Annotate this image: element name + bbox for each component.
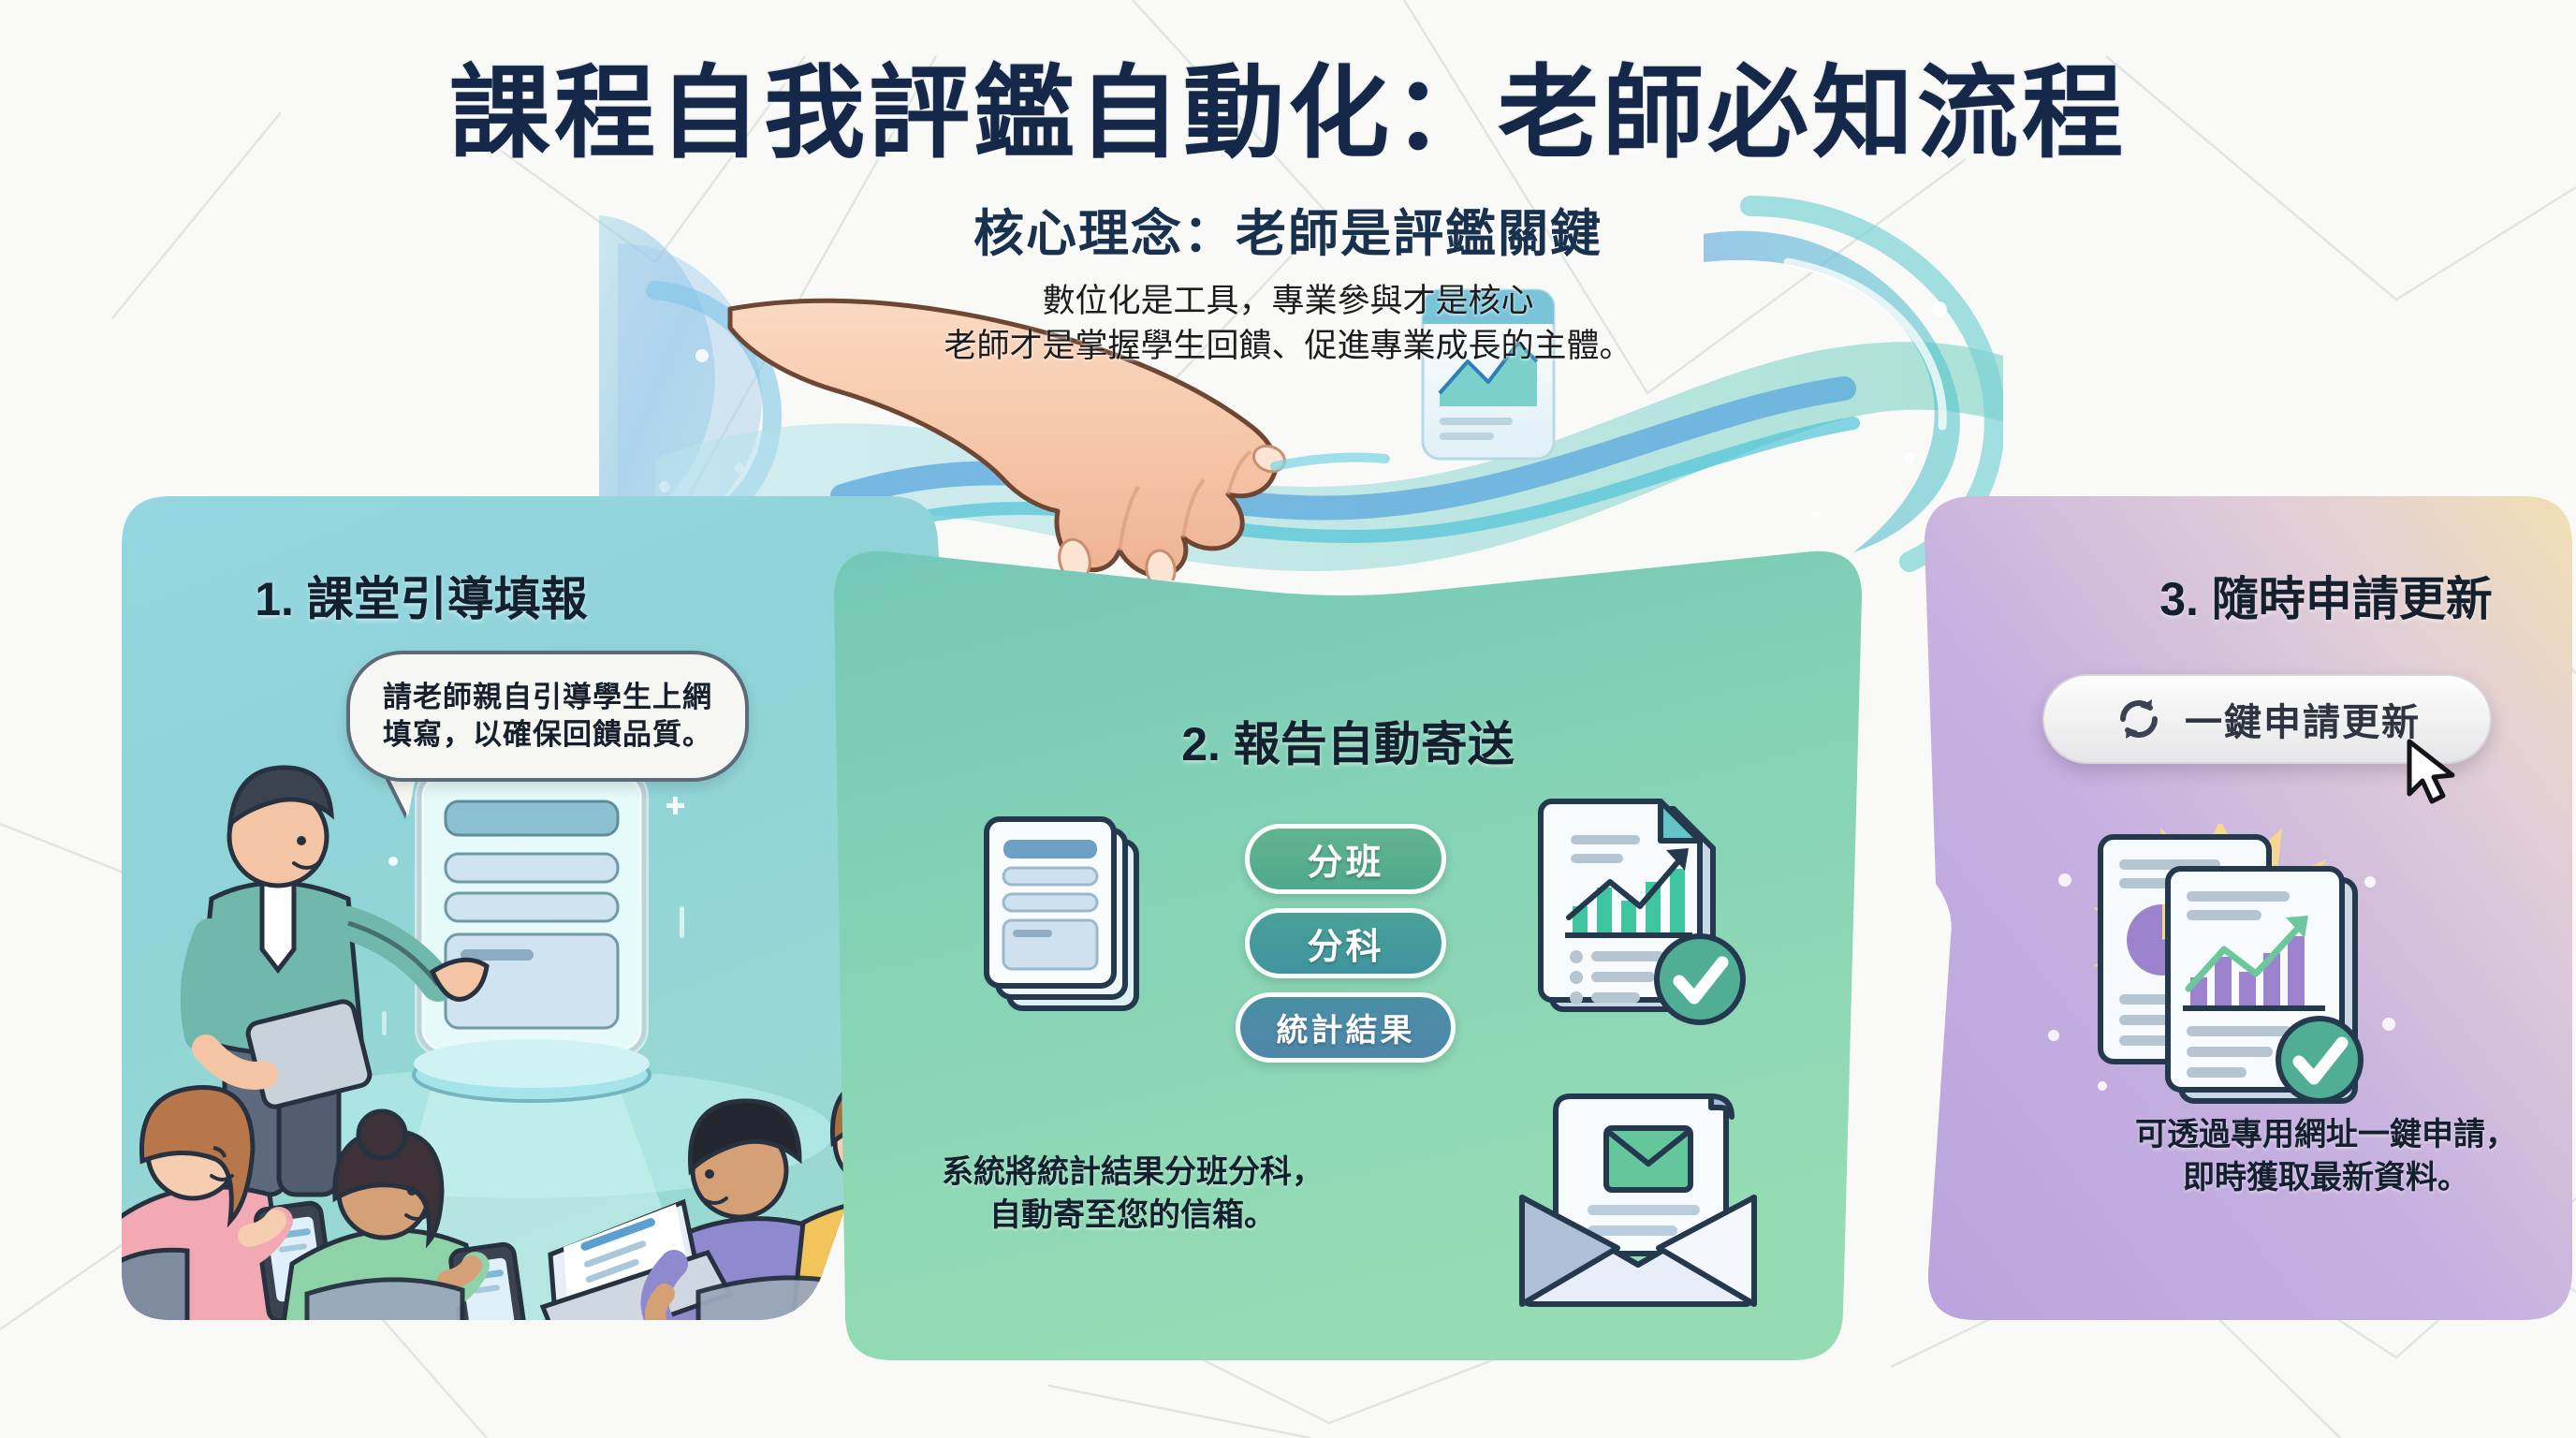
document-stack-icon <box>973 810 1161 1034</box>
hero-subtitle: 數位化是工具，專業參與才是核心 老師才是掌握學生回饋、促進專業成長的主體。 <box>0 279 2576 370</box>
speech-bubble-text: 請老師親自引導學生上網填寫，以確保回饋品質。 <box>350 654 745 778</box>
tag-pill-class[interactable]: 分班 <box>1245 824 1446 894</box>
mouse-cursor-pointer <box>2404 738 2460 805</box>
step-3-caption-line-2: 即時獲取最新資料。 <box>1952 1157 2576 1200</box>
hero-title: 核心理念：老師是評鑑關鍵 <box>0 192 2576 266</box>
step-2-caption: 系統將統計結果分班分科， 自動寄至您的信箱。 <box>604 1152 1661 1238</box>
tag-pill-statistics[interactable]: 統計結果 <box>1236 992 1456 1063</box>
tag-pill-subject-label: 分科 <box>1307 917 1383 969</box>
page-title: 課程自我評鑑自動化：老師必知流程 <box>0 32 2576 178</box>
tag-pill-subject[interactable]: 分科 <box>1245 908 1446 978</box>
step-3-caption: 可透過專用網址一鍵申請， 即時獲取最新資料。 <box>1952 1114 2576 1200</box>
step-3-title: 3. 隨時申請更新 <box>1952 562 2576 629</box>
hero-text-block: 核心理念：老師是評鑑關鍵 數位化是工具，專業參與才是核心 老師才是掌握學生回饋、… <box>0 192 2576 370</box>
report-with-check-icon <box>1535 796 1760 1030</box>
step-2-caption-line-1: 系統將統計結果分班分科， <box>604 1152 1661 1195</box>
step-2-caption-line-2: 自動寄至您的信箱。 <box>604 1195 1661 1238</box>
apply-update-button-label: 一鍵申請更新 <box>2185 692 2421 746</box>
tag-pill-class-label: 分班 <box>1307 833 1383 885</box>
refresh-icon <box>2114 694 2164 744</box>
updated-reports-icon <box>2022 824 2424 1123</box>
tag-pill-statistics-label: 統計結果 <box>1277 1005 1415 1050</box>
infographic-canvas: 課程自我評鑑自動化：老師必知流程 核心理念：老師是評鑑關鍵 數位化是工具，專業參… <box>0 0 2576 1438</box>
step-panel-2: 2. 報告自動寄送 分班 分科 統計結果 <box>819 538 1877 1372</box>
speech-bubble: 請老師親自引導學生上網填寫，以確保回饋品質。 <box>346 651 749 782</box>
hero-subtitle-line-2: 老師才是掌握學生回饋、促進專業成長的主體。 <box>0 324 2576 369</box>
step-panel-3: 3. 隨時申請更新 一鍵申請更新 <box>1835 487 2576 1329</box>
step-3-caption-line-1: 可透過專用網址一鍵申請， <box>1952 1114 2576 1157</box>
hero-subtitle-line-1: 數位化是工具，專業參與才是核心 <box>0 279 2576 324</box>
step-1-title: 1. 課堂引導填報 <box>0 562 871 629</box>
step-2-title: 2. 報告自動寄送 <box>819 707 1877 774</box>
